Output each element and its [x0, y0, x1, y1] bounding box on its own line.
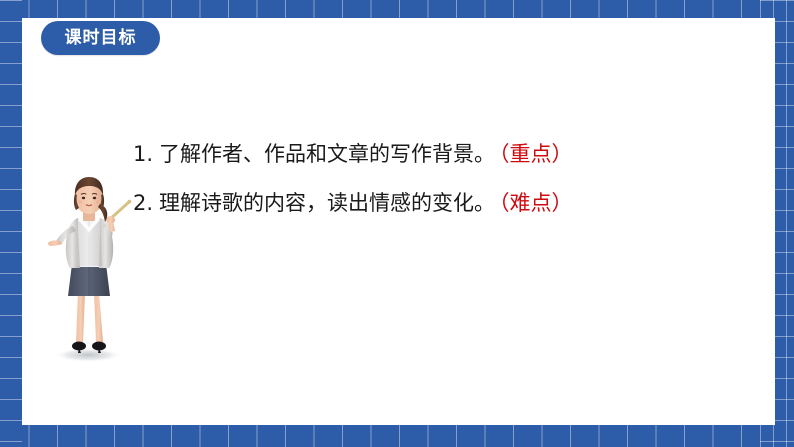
objective-text: 理解诗歌的内容，读出情感的变化。: [159, 191, 495, 215]
eye-left: [82, 197, 85, 199]
objective-number: 1.: [133, 142, 153, 166]
border-left-grid: [0, 0, 22, 447]
slide-root: 课时目标 1.了解作者、作品和文章的写作背景。（重点） 2.理解诗歌的内容，读出…: [0, 0, 794, 447]
objective-text: 了解作者、作品和文章的写作背景。: [159, 142, 495, 166]
hand-right: [106, 216, 115, 224]
teacher-illustration-icon: [38, 174, 142, 364]
objective-item-1: 1.了解作者、作品和文章的写作背景。（重点）: [133, 143, 733, 166]
figure-shadow: [55, 348, 121, 362]
border-top-grid: [0, 0, 794, 18]
objective-item-2: 2.理解诗歌的内容，读出情感的变化。（难点）: [133, 192, 733, 215]
leg-left: [76, 292, 85, 342]
objective-tag: （重点）: [499, 142, 573, 166]
title-badge-label: 课时目标: [65, 30, 137, 47]
leg-right: [94, 292, 103, 342]
eye-right: [93, 197, 96, 199]
objectives-list: 1.了解作者、作品和文章的写作背景。（重点） 2.理解诗歌的内容，读出情感的变化…: [133, 143, 733, 215]
title-badge: 课时目标: [41, 21, 160, 55]
objective-tag: （难点）: [499, 191, 573, 215]
hand-left: [48, 240, 62, 246]
border-bottom-grid: [0, 425, 794, 447]
